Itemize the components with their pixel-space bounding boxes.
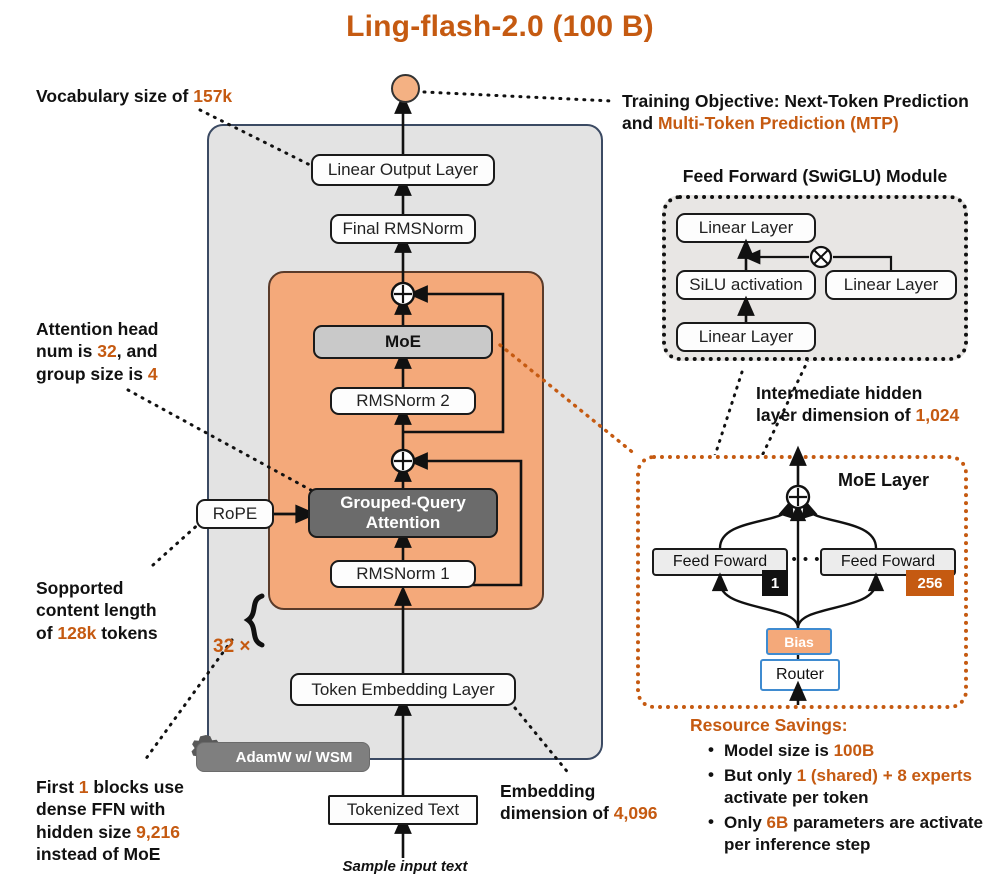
dense-ffn-post: blocks use bbox=[89, 777, 184, 797]
swiglu-silu-box[interactable]: SiLU activation bbox=[676, 270, 816, 300]
token-embedding-layer-box[interactable]: Token Embedding Layer bbox=[290, 673, 516, 706]
rope-box[interactable]: RoPE bbox=[196, 499, 274, 529]
final-rmsnorm-box[interactable]: Final RMSNorm bbox=[330, 214, 476, 244]
bullet1-accent: 1 (shared) + 8 experts bbox=[797, 766, 972, 785]
attention-head-line1: Attention head bbox=[36, 318, 246, 340]
moe-router-box[interactable]: Router bbox=[760, 659, 840, 691]
swiglu-gate-linear-box[interactable]: Linear Layer bbox=[825, 270, 957, 300]
tokenized-text-box[interactable]: Tokenized Text bbox=[328, 795, 478, 825]
linear-output-layer-box[interactable]: Linear Output Layer bbox=[311, 154, 495, 186]
group-size-pre: group size is bbox=[36, 364, 148, 384]
resource-savings-list: Model size is 100B But only 1 (shared) +… bbox=[690, 740, 990, 855]
annotation-training-objective: Training Objective: Next-Token Predictio… bbox=[622, 90, 982, 135]
bullet1-pre: But only bbox=[724, 766, 797, 785]
context-length-line2: content length bbox=[36, 599, 256, 621]
context-length-pre: of bbox=[36, 623, 57, 643]
intermediate-dim-line1: Intermediate hidden bbox=[756, 382, 996, 404]
moe-expert-left-badge: 1 bbox=[762, 570, 788, 596]
list-item: But only 1 (shared) + 8 experts activate… bbox=[708, 765, 990, 808]
bullet1-post: activate per token bbox=[724, 788, 869, 807]
embedding-dim-value: 4,096 bbox=[614, 803, 658, 823]
intermediate-dim-value: 1,024 bbox=[915, 405, 959, 425]
annotation-vocabulary: Vocabulary size of 157k bbox=[36, 85, 306, 107]
optimizer-badge: AdamW w/ WSM bbox=[196, 742, 370, 772]
annotation-intermediate-dim: Intermediate hidden layer dimension of 1… bbox=[756, 382, 996, 427]
dense-ffn-line2: dense FFN with bbox=[36, 798, 286, 820]
training-objective-mtp: Multi-Token Prediction (MTP) bbox=[658, 113, 899, 133]
annotation-context-length: Sopported content length of 128k tokens bbox=[36, 577, 256, 644]
group-size-value: 4 bbox=[148, 364, 158, 384]
swiglu-top-linear-box[interactable]: Linear Layer bbox=[676, 213, 816, 243]
vocabulary-prefix: Vocabulary size of bbox=[36, 86, 193, 106]
vocabulary-value: 157k bbox=[193, 86, 232, 106]
attention-head-num: 32 bbox=[97, 341, 116, 361]
moe-layer-title: MoE Layer bbox=[838, 470, 929, 491]
output-token-circle bbox=[391, 74, 420, 103]
swiglu-bottom-linear-box[interactable]: Linear Layer bbox=[676, 322, 816, 352]
dense-ffn-hidden-pre: hidden size bbox=[36, 822, 136, 842]
list-item: Only 6B parameters are activate per infe… bbox=[708, 812, 990, 855]
resource-savings-heading: Resource Savings: bbox=[690, 715, 990, 736]
annotation-attention-head: Attention head num is 32, and group size… bbox=[36, 318, 246, 385]
embedding-dim-line1: Embedding bbox=[500, 780, 700, 802]
context-length-line1: Sopported bbox=[36, 577, 256, 599]
training-objective-line1: Training Objective: Next-Token Predictio… bbox=[622, 90, 982, 112]
gqa-label-line2: Attention bbox=[366, 513, 441, 533]
bullet0-accent: 100B bbox=[834, 741, 875, 760]
attention-head-line2-post: , and bbox=[117, 341, 158, 361]
dense-ffn-pre: First bbox=[36, 777, 79, 797]
list-item: Model size is 100B bbox=[708, 740, 990, 761]
embedding-dim-pre: dimension of bbox=[500, 803, 614, 823]
context-length-post: tokens bbox=[96, 623, 157, 643]
rmsnorm2-box[interactable]: RMSNorm 2 bbox=[330, 387, 476, 415]
moe-bias-box[interactable]: Bias bbox=[766, 628, 832, 655]
context-length-value: 128k bbox=[57, 623, 96, 643]
swiglu-module-title: Feed Forward (SwiGLU) Module bbox=[662, 166, 968, 187]
moe-box[interactable]: MoE bbox=[313, 325, 493, 359]
gqa-label-line1: Grouped-Query bbox=[340, 493, 466, 513]
bullet0-pre: Model size is bbox=[724, 741, 834, 760]
intermediate-dim-pre: layer dimension of bbox=[756, 405, 915, 425]
grouped-query-attention-box[interactable]: Grouped-Query Attention bbox=[308, 488, 498, 538]
training-objective-line2-pre: and bbox=[622, 113, 658, 133]
page-title: Ling-flash-2.0 (100 B) bbox=[0, 10, 1000, 44]
annotation-embedding-dim: Embedding dimension of 4,096 bbox=[500, 780, 700, 825]
bullet2-accent: 6B bbox=[767, 813, 789, 832]
attention-head-line2-pre: num is bbox=[36, 341, 97, 361]
sample-input-text-label: Sample input text bbox=[330, 858, 480, 875]
dense-ffn-blocks: 1 bbox=[79, 777, 89, 797]
resource-savings-panel: Resource Savings: Model size is 100B But… bbox=[690, 715, 990, 859]
dense-ffn-line4: instead of MoE bbox=[36, 843, 286, 865]
moe-expert-right-badge: 256 bbox=[906, 570, 954, 596]
bullet2-pre: Only bbox=[724, 813, 767, 832]
rmsnorm1-box[interactable]: RMSNorm 1 bbox=[330, 560, 476, 588]
moe-experts-ellipsis: • • • bbox=[791, 551, 821, 568]
annotation-dense-ffn: First 1 blocks use dense FFN with hidden… bbox=[36, 776, 286, 866]
dense-ffn-hidden-size: 9,216 bbox=[136, 822, 180, 842]
